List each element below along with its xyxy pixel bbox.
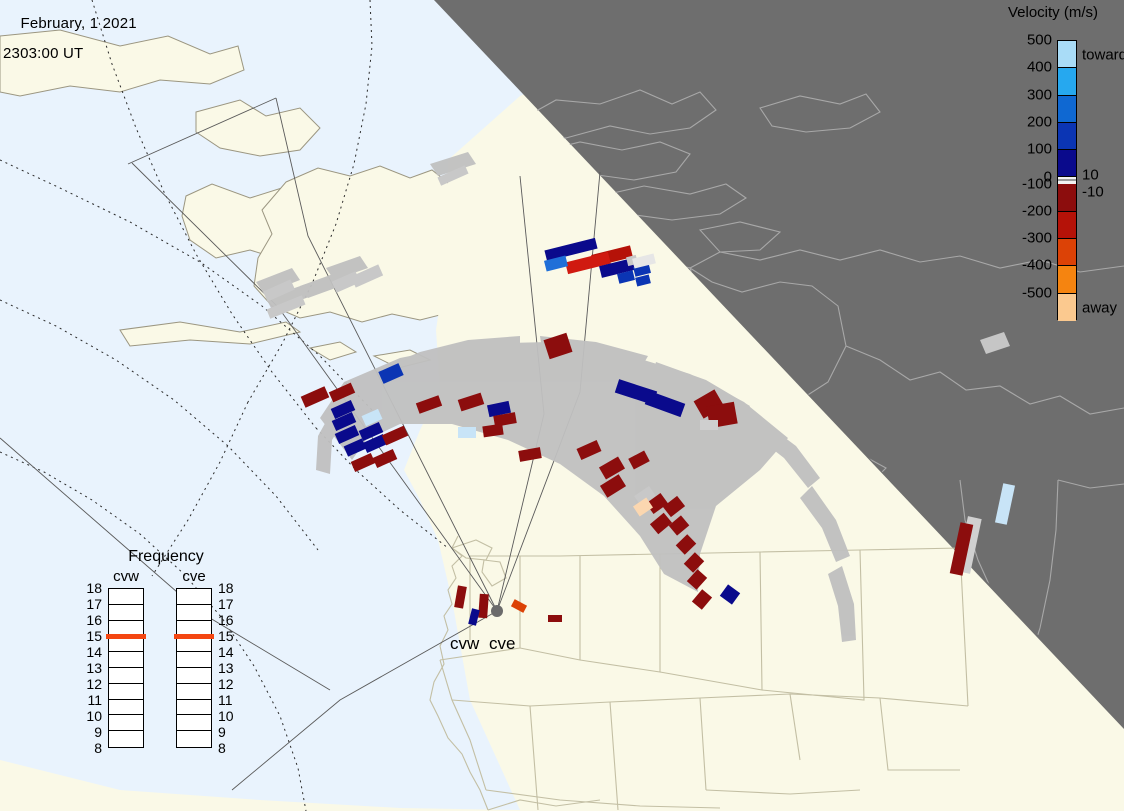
velocity-cell — [692, 589, 712, 610]
colorbar-tick-neg400: -400 — [994, 257, 1052, 274]
colorbar-tick-neg500: -500 — [994, 284, 1052, 301]
velocity-cell — [511, 599, 527, 613]
velocity-cell — [468, 608, 480, 625]
velocity-cell — [663, 496, 685, 517]
velocity-cell — [635, 274, 651, 286]
colorbar-segment — [1058, 123, 1076, 150]
velocity-cell — [645, 391, 685, 417]
radar-map-view: cvw cve February, 1 2021 2303:00 UT Velo… — [0, 0, 1124, 811]
radar-site-label-cvw: cvw — [450, 634, 479, 654]
velocity-cell — [518, 447, 542, 462]
velocity-cell — [676, 534, 697, 554]
velocity-cell — [382, 426, 408, 446]
frequency-tick-cvw-15: 15 — [78, 628, 102, 644]
velocity-cell — [416, 395, 442, 414]
frequency-tick-cvw-16: 16 — [78, 612, 102, 628]
frequency-bar-cell — [177, 652, 211, 668]
velocity-cell — [351, 453, 376, 472]
frequency-bar-cell — [177, 684, 211, 700]
frequency-tick-cve-14: 14 — [218, 644, 242, 660]
colorbar-gradient — [1057, 40, 1077, 320]
frequency-bar-cell — [177, 668, 211, 684]
colorbar-tick-400: 400 — [994, 59, 1052, 76]
frequency-tick-cvw-10: 10 — [78, 708, 102, 724]
title-date: February, 1 2021 — [20, 15, 136, 32]
colorbar-toward-label: toward — [1082, 47, 1124, 64]
frequency-tick-cvw-11: 11 — [78, 692, 102, 708]
velocity-cell — [684, 552, 704, 573]
frequency-bar-cell — [177, 715, 211, 731]
velocity-cell — [720, 584, 740, 604]
velocity-cell — [650, 513, 672, 535]
timestamp-title: February, 1 2021 2303:00 UT — [3, 1, 137, 91]
colorbar-title: Velocity (m/s) — [983, 4, 1123, 21]
velocity-cell — [458, 393, 485, 412]
velocity-cell — [373, 449, 398, 468]
colorbar-segment — [1058, 294, 1076, 321]
velocity-cell — [301, 386, 330, 408]
frequency-tick-cvw-9: 9 — [78, 724, 102, 740]
frequency-bar-cell — [109, 684, 143, 700]
frequency-tick-cvw-13: 13 — [78, 660, 102, 676]
frequency-marker-cve — [174, 634, 214, 639]
frequency-marker-cvw — [106, 634, 146, 639]
colorbar-segment — [1058, 212, 1076, 239]
frequency-bar-cell — [109, 668, 143, 684]
velocity-colorbar: Velocity (m/s) 5004003002001000-100-200-… — [1005, 4, 1124, 329]
colorbar-tick-200: 200 — [994, 113, 1052, 130]
colorbar-segment — [1058, 68, 1076, 95]
colorbar-zero-lo-label: -10 — [1082, 183, 1104, 200]
frequency-tick-cve-11: 11 — [218, 692, 242, 708]
frequency-bar-cell — [177, 605, 211, 621]
frequency-tick-cve-10: 10 — [218, 708, 242, 724]
frequency-bar-cell — [177, 589, 211, 605]
frequency-bar-cvw — [108, 588, 144, 748]
velocity-cell — [263, 279, 295, 301]
frequency-legend-title: Frequency — [86, 548, 246, 566]
velocity-cell — [548, 615, 562, 622]
velocity-cell — [628, 450, 650, 469]
velocity-cell — [329, 383, 355, 403]
frequency-tick-cvw-18: 18 — [78, 580, 102, 596]
frequency-tick-cve-17: 17 — [218, 596, 242, 612]
frequency-tick-cve-18: 18 — [218, 580, 242, 596]
frequency-bar-cell — [109, 700, 143, 716]
colorbar-tick-neg300: -300 — [994, 230, 1052, 247]
frequency-bar-cell — [109, 652, 143, 668]
velocity-cell — [378, 363, 403, 384]
frequency-bar-cell — [109, 731, 143, 747]
velocity-cell — [669, 515, 690, 535]
frequency-tick-cvw-8: 8 — [78, 740, 102, 756]
frequency-bar-cell — [177, 731, 211, 747]
frequency-tick-cve-12: 12 — [218, 676, 242, 692]
velocity-cell — [617, 270, 635, 284]
frequency-legend: Frequency cvw18171615141312111098cve1817… — [86, 548, 246, 784]
colorbar-segment — [1058, 41, 1076, 68]
colorbar-segment — [1058, 239, 1076, 266]
radar-site-marker — [491, 605, 503, 617]
frequency-bar-cell — [109, 715, 143, 731]
radar-site-label-cve: cve — [489, 634, 515, 654]
velocity-cell — [332, 271, 361, 293]
velocity-cell — [599, 456, 625, 479]
colorbar-zero-hi-label: 10 — [1082, 166, 1099, 183]
frequency-bar-label-cve: cve — [171, 568, 217, 585]
frequency-bar-cell — [109, 605, 143, 621]
frequency-tick-cve-16: 16 — [218, 612, 242, 628]
velocity-cell — [454, 585, 467, 608]
velocity-cell — [700, 420, 718, 430]
frequency-bar-cve — [176, 588, 212, 748]
colorbar-tick-neg200: -200 — [994, 202, 1052, 219]
frequency-tick-cve-15: 15 — [218, 628, 242, 644]
frequency-bar-cell — [109, 589, 143, 605]
colorbar-tick-100: 100 — [994, 141, 1052, 158]
velocity-cell — [478, 594, 489, 619]
velocity-cell — [458, 427, 476, 438]
velocity-cell — [577, 440, 602, 460]
velocity-cell — [600, 474, 626, 498]
colorbar-segment — [1058, 266, 1076, 293]
frequency-tick-cvw-12: 12 — [78, 676, 102, 692]
title-time: 2303:00 UT — [3, 46, 137, 61]
frequency-tick-cve-8: 8 — [218, 740, 242, 756]
frequency-tick-cve-9: 9 — [218, 724, 242, 740]
velocity-cell — [543, 333, 572, 359]
velocity-cell — [995, 483, 1015, 525]
velocity-cell — [687, 569, 707, 590]
colorbar-segment — [1058, 184, 1076, 211]
colorbar-tick-500: 500 — [994, 32, 1052, 49]
frequency-tick-cvw-17: 17 — [78, 596, 102, 612]
colorbar-zero-band — [1058, 177, 1076, 184]
frequency-tick-cvw-14: 14 — [78, 644, 102, 660]
velocity-cell — [482, 424, 503, 438]
velocity-cell — [344, 438, 367, 456]
colorbar-segment — [1058, 96, 1076, 123]
frequency-tick-cve-13: 13 — [218, 660, 242, 676]
colorbar-tick-neg100: -100 — [994, 175, 1052, 192]
frequency-bar-cell — [177, 700, 211, 716]
colorbar-away-label: away — [1082, 299, 1117, 316]
colorbar-segment — [1058, 150, 1076, 177]
colorbar-tick-300: 300 — [994, 86, 1052, 103]
frequency-bar-label-cvw: cvw — [103, 568, 149, 585]
velocity-cell — [437, 165, 468, 185]
